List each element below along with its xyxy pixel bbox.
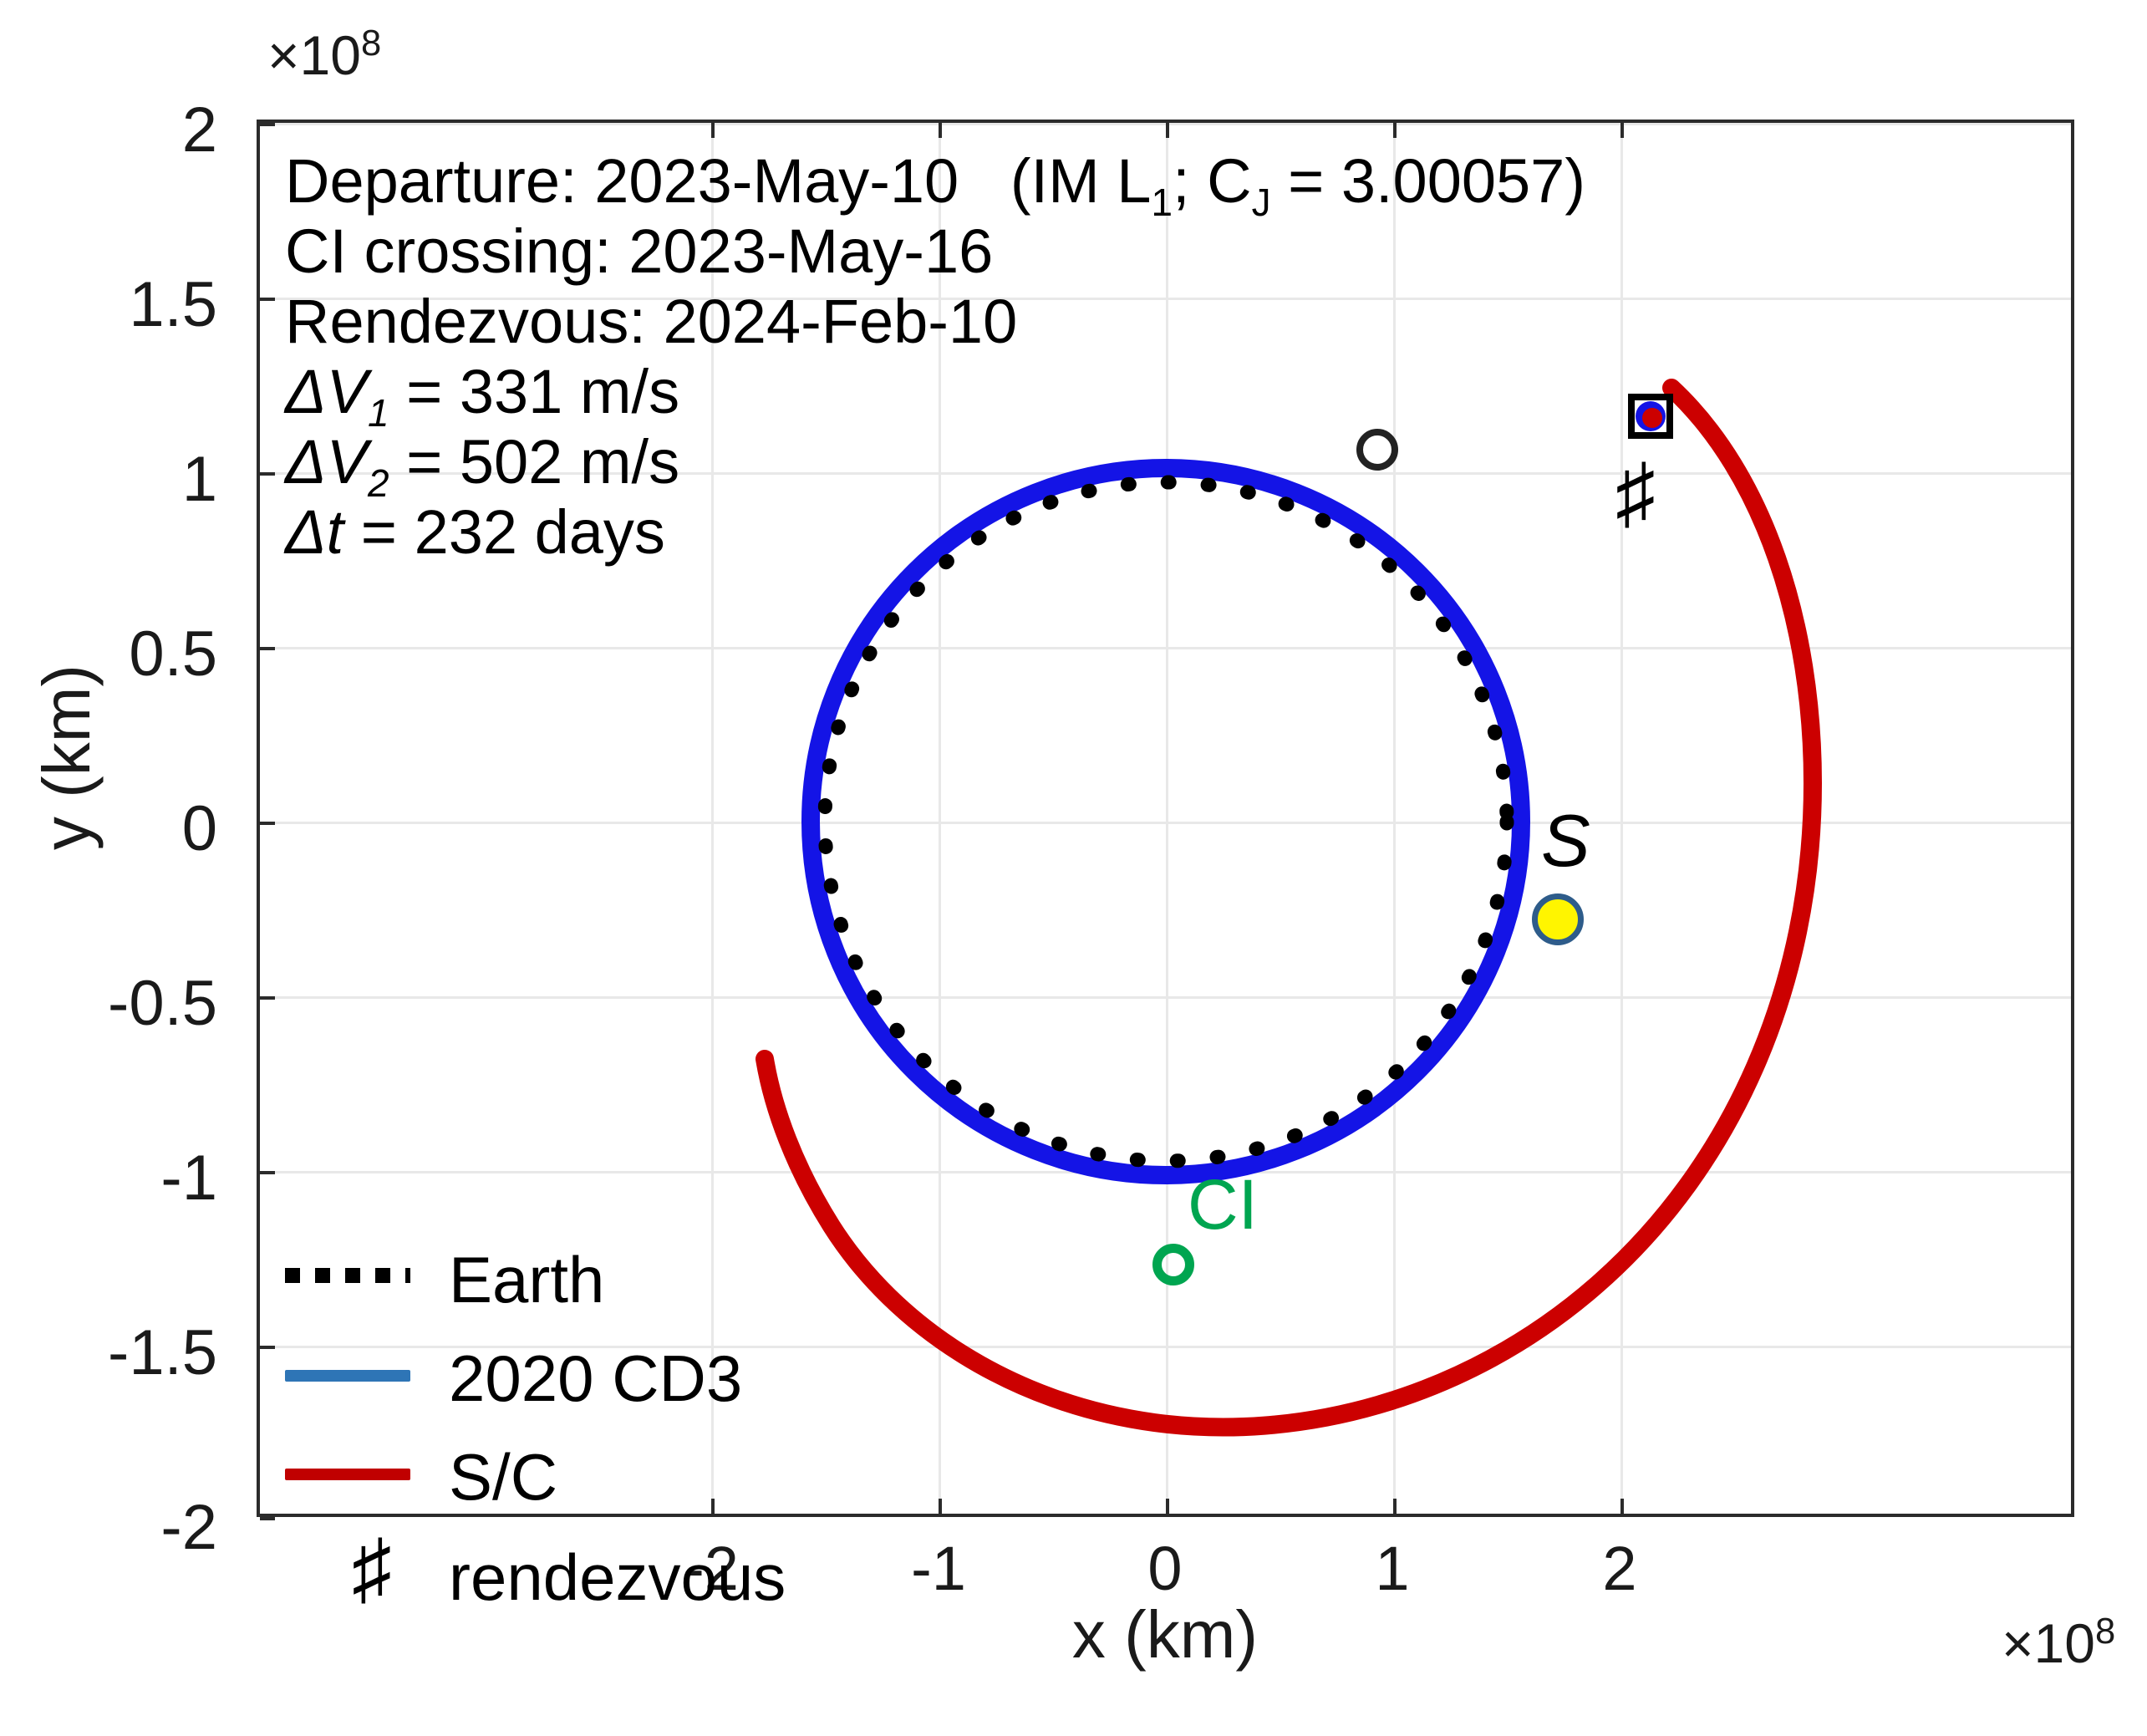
- x-tick-label: 0: [1147, 1538, 1182, 1600]
- ci-crossing-label: CI: [1188, 1164, 1258, 1245]
- dv2-value: 502 m/s: [460, 427, 679, 496]
- dv-symbol: ΔV: [285, 357, 368, 426]
- legend-swatch-red-icon: [285, 1469, 410, 1480]
- y-tick-label: -1.5: [17, 1321, 217, 1385]
- rendezvous-label-text: Rendezvous:: [285, 287, 646, 356]
- x-tick-label: 1: [1375, 1538, 1409, 1600]
- equals-sign: =: [1288, 146, 1324, 216]
- dt-symbol: Δt: [285, 497, 343, 567]
- rendezvous-sharp-symbol-icon: ♯: [1615, 447, 1656, 539]
- jacobi-subscript: J: [1252, 181, 1271, 224]
- dv1-value: 331 m/s: [460, 357, 679, 426]
- equals-sign: =: [406, 427, 442, 496]
- plot-area: S CI ♯ g) Departure: 2023-May-10 (IM L1;…: [257, 120, 2074, 1517]
- legend-label-rendezvous: rendezvous: [449, 1537, 786, 1617]
- dt-value: 232 days: [415, 497, 665, 567]
- annotation-line-rendezvous: Rendezvous: 2024-Feb-10: [285, 287, 1585, 357]
- y-tick-label: 2: [17, 99, 217, 162]
- x-tick-label: 2: [1602, 1538, 1636, 1600]
- x-tick-label: -1: [911, 1538, 966, 1600]
- sun-marker-icon: [1532, 893, 1584, 945]
- departure-label: Departure:: [285, 146, 577, 216]
- ci-crossing-marker-icon: [1152, 1244, 1194, 1285]
- departure-date: 2023-May-10: [594, 146, 959, 216]
- rendezvous-marker-dot-red-icon: [1642, 408, 1662, 428]
- y-tick-label: -0.5: [17, 972, 217, 1036]
- series-earth-orbit: [825, 482, 1507, 1161]
- equals-sign: =: [361, 497, 397, 567]
- jacobi-symbol: C: [1207, 146, 1251, 216]
- equals-sign: =: [406, 357, 442, 426]
- legend-label-2020cd3: 2020 CD3: [449, 1338, 742, 1418]
- legend-swatch-blue-icon: [285, 1370, 410, 1382]
- y-tick-label: -2: [17, 1496, 217, 1560]
- sharp-symbol-icon: ♯: [352, 1519, 392, 1619]
- rendezvous-date: 2024-Feb-10: [664, 287, 1018, 356]
- legend-label-earth: Earth: [449, 1240, 604, 1320]
- figure-panel: ×108 y (km) 2 1.5 1 0.5 0 -0.5 -1 -1.5 -…: [0, 0, 2147, 1736]
- y-tick-label: 1.5: [17, 273, 217, 337]
- paren-close: ): [1564, 146, 1585, 216]
- semicolon: ;: [1173, 146, 1190, 216]
- y-tick-label: 1: [17, 448, 217, 512]
- annotation-line-departure: Departure: 2023-May-10 (IM L1; CJ = 3.00…: [285, 146, 1585, 216]
- y-tick-label: -1: [17, 1147, 217, 1210]
- y-tick-label: 0: [17, 797, 217, 861]
- ci-crossing-label-text: CI crossing:: [285, 216, 612, 286]
- dv-symbol: ΔV: [285, 427, 368, 496]
- paren-open: (: [1010, 146, 1031, 216]
- jacobi-value: 3.00057: [1341, 146, 1565, 216]
- annotation-line-dv2: ΔV2 = 502 m/s: [285, 427, 1585, 497]
- im-manifold-index: 1: [1151, 181, 1173, 224]
- x-axis-title: x (km): [1072, 1596, 1258, 1673]
- legend-swatch-dotted-icon: [285, 1268, 410, 1283]
- y-tick-label: 0.5: [17, 623, 217, 686]
- ci-crossing-date: 2023-May-16: [628, 216, 993, 286]
- annotation-line-ci-crossing: CI crossing: 2023-May-16: [285, 216, 1585, 287]
- annotation-block: Departure: 2023-May-10 (IM L1; CJ = 3.00…: [285, 146, 1585, 568]
- legend-label-spacecraft: S/C: [449, 1437, 557, 1517]
- annotation-line-dt: Δt = 232 days: [285, 497, 1585, 568]
- annotation-line-dv1: ΔV1 = 331 m/s: [285, 357, 1585, 427]
- sun-label: S: [1541, 798, 1590, 883]
- im-manifold-label: IM L: [1031, 146, 1152, 216]
- series-2020cd3-orbit: [811, 468, 1521, 1175]
- x-axis-exponent: ×108: [2002, 1611, 2115, 1675]
